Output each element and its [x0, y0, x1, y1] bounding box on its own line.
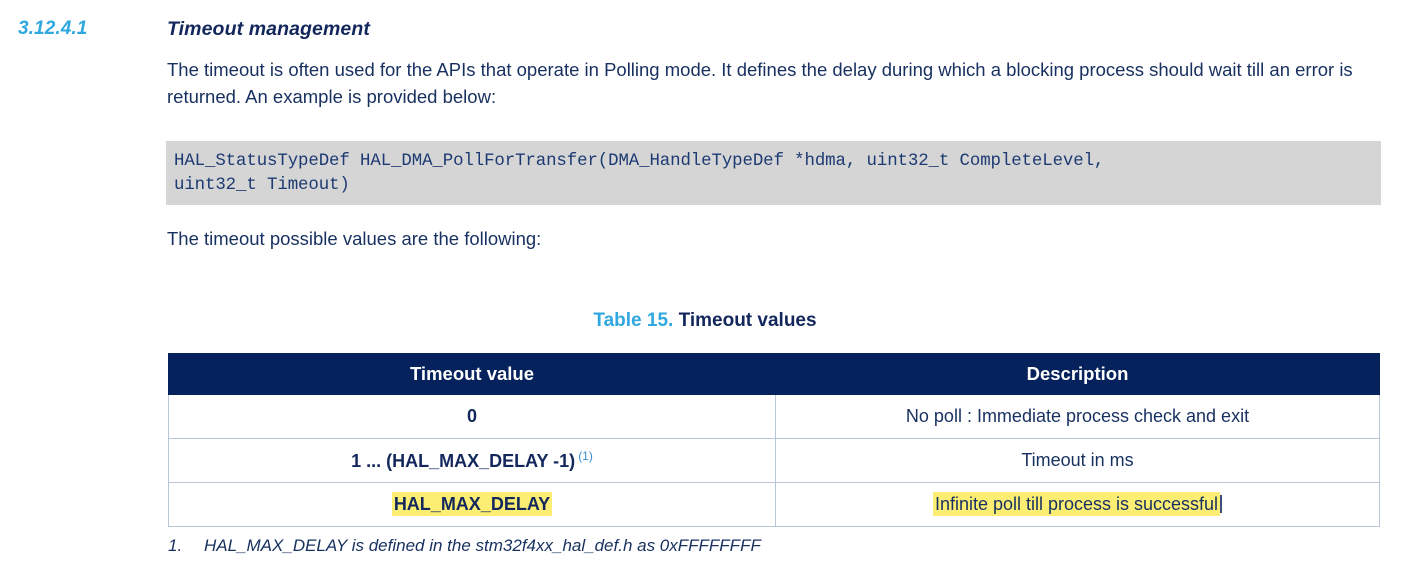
- table-header-row: Timeout value Description: [169, 354, 1380, 395]
- table-row-highlighted: HAL_MAX_DELAY Infinite poll till process…: [169, 483, 1380, 527]
- table-cell-value: 1 ... (HAL_MAX_DELAY -1)(1): [169, 439, 776, 483]
- table-caption-text: Timeout values: [679, 310, 817, 331]
- timeout-values-table: Timeout value Description 0 No poll : Im…: [168, 353, 1380, 527]
- footnote-text: HAL_MAX_DELAY is defined in the stm32f4x…: [204, 536, 761, 555]
- table-cell-value-text: HAL_MAX_DELAY: [392, 492, 552, 516]
- section-number: 3.12.4.1: [18, 18, 87, 40]
- footnote: 1.HAL_MAX_DELAY is defined in the stm32f…: [168, 536, 761, 556]
- table-cell-description: Timeout in ms: [776, 439, 1380, 483]
- table-caption-label: Table 15.: [593, 310, 673, 331]
- table-row: 1 ... (HAL_MAX_DELAY -1)(1) Timeout in m…: [169, 439, 1380, 483]
- table-header-description: Description: [776, 354, 1380, 395]
- table-cell-value: 0: [169, 395, 776, 439]
- intro-paragraph: The timeout is often used for the APIs t…: [167, 56, 1357, 110]
- table-cell-description: No poll : Immediate process check and ex…: [776, 395, 1380, 439]
- text-caret: [1220, 495, 1222, 513]
- footnote-reference: (1): [578, 449, 593, 463]
- footnote-number: 1.: [168, 536, 204, 556]
- code-line-2: uint32_t Timeout): [174, 174, 1381, 198]
- table-cell-value: HAL_MAX_DELAY: [169, 483, 776, 527]
- table-cell-description-text: Infinite poll till process is successful: [933, 492, 1220, 516]
- after-code-paragraph: The timeout possible values are the foll…: [167, 225, 1067, 252]
- document-page: 3.12.4.1 Timeout management The timeout …: [0, 0, 1410, 573]
- table-cell-description: Infinite poll till process is successful: [776, 483, 1380, 527]
- section-title: Timeout management: [167, 18, 370, 41]
- section-heading: 3.12.4.1 Timeout management: [0, 18, 1410, 48]
- code-block: HAL_StatusTypeDef HAL_DMA_PollForTransfe…: [166, 141, 1381, 205]
- table-row: 0 No poll : Immediate process check and …: [169, 395, 1380, 439]
- code-line-1: HAL_StatusTypeDef HAL_DMA_PollForTransfe…: [174, 150, 1381, 174]
- table-header-timeout-value: Timeout value: [169, 354, 776, 395]
- table-cell-value-text: 1 ... (HAL_MAX_DELAY -1): [351, 451, 575, 471]
- table-caption: Table 15. Timeout values: [0, 310, 1410, 332]
